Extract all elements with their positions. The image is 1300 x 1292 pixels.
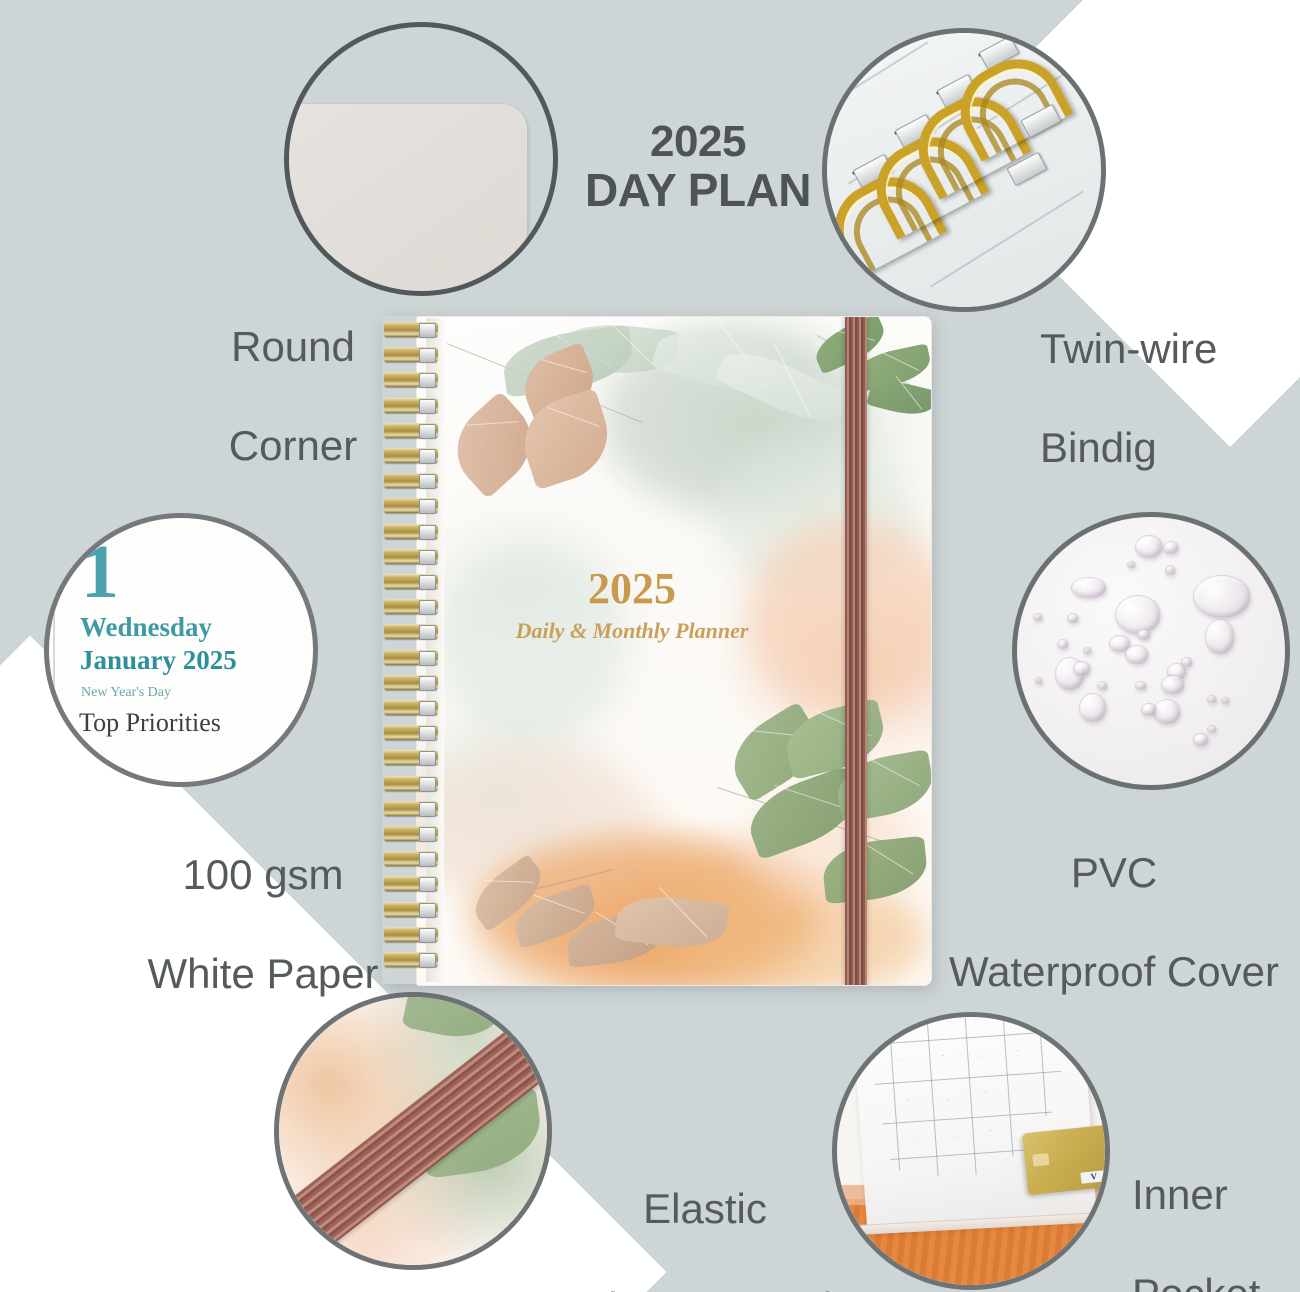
page-title: 2025 DAY PLAN [523,118,873,215]
infographic-canvas: 2025 DAY PLAN Round Corner [0,0,1300,1292]
spiral-coil-ring [384,826,438,841]
feature-circle-round-corner [284,22,558,296]
white-paper-line1: 100 gsm [128,850,398,900]
feature-circle-white-paper: 1 Wednesday January 2025 New Year's Day … [44,513,318,787]
spiral-coil-ring [384,725,438,740]
pocket-line2: Pocket [1132,1269,1300,1292]
spiral-coil-ring [384,398,438,413]
spiral-coil-ring [384,776,438,791]
us-map-page: ·· ·· ·· ·· ·· ·· ·· ·· ·· ·· ·· ·· ·· ·… [851,1017,1096,1231]
day-holiday: New Year's Day [81,686,171,700]
cover-elastic-band [845,316,867,986]
page-edge-line [53,546,55,746]
cover-subtitle: Daily & Monthly Planner [417,620,847,642]
feature-label-inner-pocket: Inner Pocket [1132,1120,1300,1292]
rounded-corner-card-icon [289,103,527,291]
feature-circle-inner-pocket: ·· ·· ·· ·· ·· ·· ·· ·· ·· ·· ·· ·· ·· ·… [832,1012,1110,1290]
planner-product-image: 2025 Daily & Monthly Planner [382,316,930,984]
spiral-coil-ring [384,372,438,387]
striped-elastic-band-icon [279,997,547,1265]
card-logo: V [1080,1170,1105,1184]
feature-label-elastic-band: Elastic Closure Band [545,1134,865,1292]
elastic-line1: Elastic [545,1184,865,1234]
elastic-line2: Closure Band [545,1283,865,1292]
spiral-coil-ring [384,675,438,690]
pocket-line1: Inner [1132,1170,1300,1220]
day-number: 1 [81,534,119,610]
pvc-line2: Waterproof Cover [930,947,1298,997]
spiral-coil-ring [384,599,438,614]
credit-card-in-pocket: V [1022,1125,1105,1196]
top-priorities-heading: Top Priorities [79,710,221,736]
twin-wire-spiral-binding [382,322,440,978]
day-weekday: Wednesday [80,614,212,641]
spiral-coil-ring [384,902,438,917]
spiral-coil-ring [384,473,438,488]
spiral-coil-ring [384,750,438,765]
twin-wire-coil-icon [827,33,1101,307]
spiral-coil-ring [384,851,438,866]
planner-cover: 2025 Daily & Monthly Planner [416,316,932,986]
spiral-coil-ring [384,801,438,816]
spiral-coil-ring [384,322,438,337]
spiral-coil-ring [384,624,438,639]
spiral-coil-ring [384,927,438,942]
spiral-coil-ring [384,423,438,438]
spiral-coil-ring [384,549,438,564]
twin-wire-line1: Twin-wire [1040,324,1290,374]
inner-pocket-card-icon: ·· ·· ·· ·· ·· ·· ·· ·· ·· ·· ·· ·· ·· ·… [837,1017,1105,1285]
title-dayplan: DAY PLAN [523,166,873,216]
day-month-year: January 2025 [80,647,237,674]
cover-year: 2025 [417,567,847,611]
spiral-coil-ring [384,347,438,362]
spiral-coil-ring [384,700,438,715]
spiral-coil-ring [384,650,438,665]
twin-wire-line2: Bindig [1040,423,1290,473]
spiral-coil-ring [384,524,438,539]
feature-circle-pvc-waterproof [1012,512,1290,790]
spiral-coil-ring [384,876,438,891]
feature-label-pvc-waterproof: PVC Waterproof Cover [930,798,1298,1046]
spiral-coil-ring [384,574,438,589]
title-year: 2025 [523,118,873,166]
planner-day-page-icon: 1 Wednesday January 2025 New Year's Day … [49,518,313,782]
water-droplets-icon [1017,517,1285,785]
pvc-line1: PVC [930,848,1298,898]
spiral-coil-ring [384,952,438,967]
feature-circle-elastic-band [274,992,552,1270]
feature-circle-twin-wire [822,28,1106,312]
spiral-coil-ring [384,448,438,463]
feature-label-twin-wire: Twin-wire Bindig [1040,274,1290,522]
white-paper-line2: White Paper [128,949,398,999]
spiral-coil-ring [384,498,438,513]
